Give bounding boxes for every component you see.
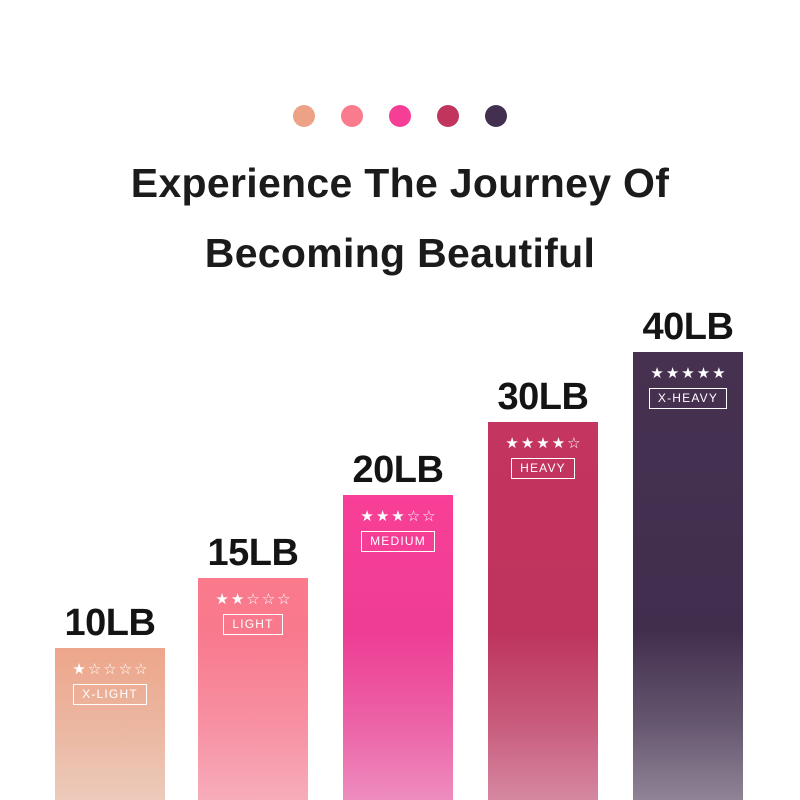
bar-body: ★★★★☆HEAVY bbox=[488, 422, 598, 800]
level-badge: X-HEAVY bbox=[649, 388, 727, 409]
promo-graphic: Experience The Journey Of Becoming Beaut… bbox=[0, 0, 800, 800]
star-filled-icon: ★ bbox=[697, 366, 710, 381]
bar-bottom-fade bbox=[198, 630, 308, 800]
bar-meta: ★★☆☆☆LIGHT bbox=[198, 592, 308, 635]
bar-bottom-fade bbox=[343, 630, 453, 800]
star-filled-icon: ★ bbox=[536, 436, 549, 451]
star-empty-icon: ☆ bbox=[103, 662, 116, 677]
bar-weight-label: 15LB bbox=[208, 534, 299, 572]
star-filled-icon: ★ bbox=[231, 592, 244, 607]
star-filled-icon: ★ bbox=[215, 592, 228, 607]
bar-meta: ★★★☆☆MEDIUM bbox=[343, 509, 453, 552]
bar-weight-label: 20LB bbox=[353, 451, 444, 489]
star-filled-icon: ★ bbox=[712, 366, 725, 381]
bar-group-heavy[interactable]: 30LB★★★★☆HEAVY bbox=[488, 422, 598, 800]
bar-meta: ★☆☆☆☆X-LIGHT bbox=[55, 662, 165, 705]
star-empty-icon: ☆ bbox=[407, 509, 420, 524]
star-filled-icon: ★ bbox=[376, 509, 389, 524]
star-empty-icon: ☆ bbox=[246, 592, 259, 607]
bar-body: ★★★☆☆MEDIUM bbox=[343, 495, 453, 800]
bar-body: ★☆☆☆☆X-LIGHT bbox=[55, 648, 165, 800]
bar-body: ★★☆☆☆LIGHT bbox=[198, 578, 308, 800]
star-rating: ★★★☆☆ bbox=[360, 509, 435, 524]
star-empty-icon: ☆ bbox=[567, 436, 580, 451]
bar-meta: ★★★★☆HEAVY bbox=[488, 436, 598, 479]
bar-body: ★★★★★X-HEAVY bbox=[633, 352, 743, 800]
bar-weight-label: 10LB bbox=[65, 604, 156, 642]
star-filled-icon: ★ bbox=[521, 436, 534, 451]
bar-bottom-fade bbox=[633, 630, 743, 800]
bar-group-x-heavy[interactable]: 40LB★★★★★X-HEAVY bbox=[633, 352, 743, 800]
star-filled-icon: ★ bbox=[666, 366, 679, 381]
star-filled-icon: ★ bbox=[552, 436, 565, 451]
star-empty-icon: ☆ bbox=[277, 592, 290, 607]
bar-group-x-light[interactable]: 10LB★☆☆☆☆X-LIGHT bbox=[55, 648, 165, 800]
bar-meta: ★★★★★X-HEAVY bbox=[633, 366, 743, 409]
star-filled-icon: ★ bbox=[505, 436, 518, 451]
star-empty-icon: ☆ bbox=[262, 592, 275, 607]
star-filled-icon: ★ bbox=[681, 366, 694, 381]
star-filled-icon: ★ bbox=[650, 366, 663, 381]
star-rating: ★★★★☆ bbox=[505, 436, 580, 451]
level-badge: X-LIGHT bbox=[73, 684, 147, 705]
level-badge: LIGHT bbox=[223, 614, 282, 635]
star-empty-icon: ☆ bbox=[422, 509, 435, 524]
bar-weight-label: 40LB bbox=[643, 308, 734, 346]
level-badge: HEAVY bbox=[511, 458, 575, 479]
star-filled-icon: ★ bbox=[360, 509, 373, 524]
level-badge: MEDIUM bbox=[361, 531, 435, 552]
star-empty-icon: ☆ bbox=[119, 662, 132, 677]
star-empty-icon: ☆ bbox=[88, 662, 101, 677]
star-filled-icon: ★ bbox=[391, 509, 404, 524]
resistance-band-bar-chart: 10LB★☆☆☆☆X-LIGHT15LB★★☆☆☆LIGHT20LB★★★☆☆M… bbox=[0, 0, 800, 800]
star-rating: ★☆☆☆☆ bbox=[72, 662, 147, 677]
bar-group-light[interactable]: 15LB★★☆☆☆LIGHT bbox=[198, 578, 308, 800]
star-filled-icon: ★ bbox=[72, 662, 85, 677]
bar-group-medium[interactable]: 20LB★★★☆☆MEDIUM bbox=[343, 495, 453, 800]
star-rating: ★★★★★ bbox=[650, 366, 725, 381]
bar-bottom-fade bbox=[488, 630, 598, 800]
star-empty-icon: ☆ bbox=[134, 662, 147, 677]
bar-weight-label: 30LB bbox=[498, 378, 589, 416]
star-rating: ★★☆☆☆ bbox=[215, 592, 290, 607]
